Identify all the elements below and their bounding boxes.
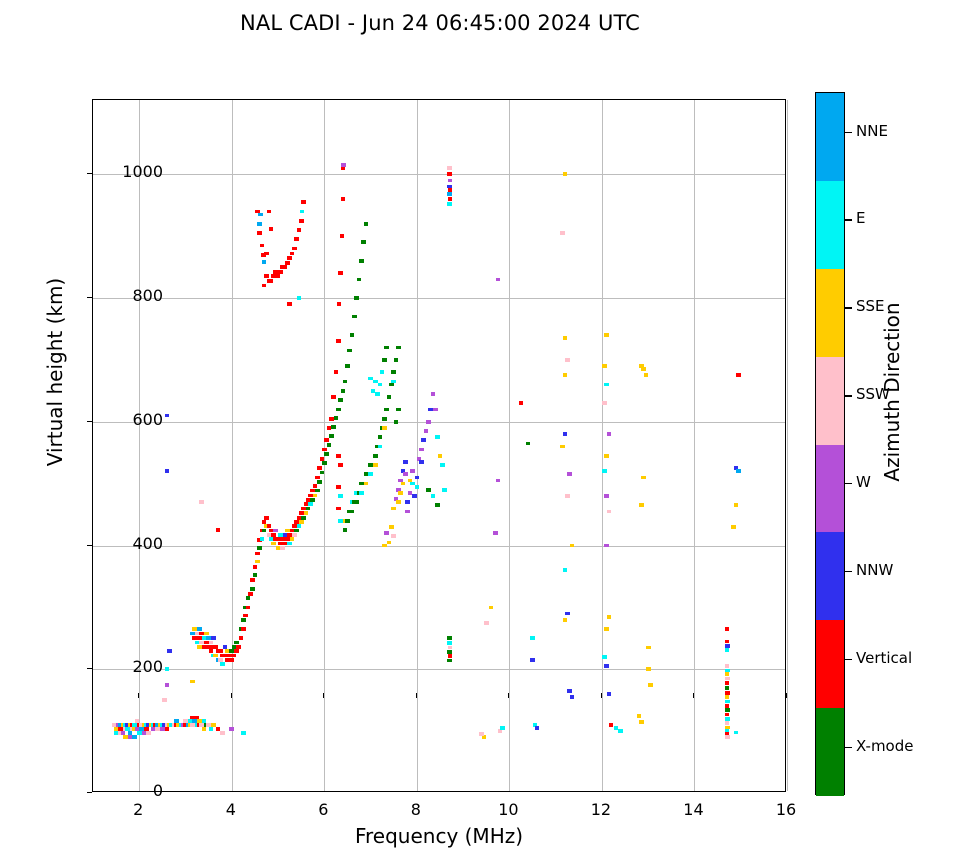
x-tick-mark (138, 693, 139, 698)
echo-point (447, 650, 452, 654)
echo-point (340, 234, 345, 238)
echo-point (223, 645, 228, 649)
echo-point (290, 252, 295, 256)
echo-point (725, 664, 730, 668)
echo-point (204, 632, 209, 636)
echo-point (294, 529, 299, 533)
echo-point (419, 448, 424, 452)
echo-point (262, 284, 267, 288)
echo-point (297, 228, 302, 232)
echo-point (285, 261, 290, 265)
echo-point (602, 364, 607, 368)
echo-point (382, 426, 387, 430)
echo-point (403, 460, 408, 464)
echo-point (563, 432, 568, 436)
echo-point (267, 524, 272, 528)
echo-point (725, 640, 730, 644)
echo-point (604, 664, 609, 668)
echo-point (336, 339, 341, 343)
echo-point (447, 172, 452, 176)
echo-point (338, 463, 343, 467)
echo-point (229, 658, 234, 662)
echo-point (440, 463, 445, 467)
echo-point (479, 732, 484, 736)
echo-point (338, 494, 343, 498)
echo-point (287, 542, 292, 546)
echo-point (433, 408, 438, 412)
echo-point (607, 692, 612, 696)
echo-point (315, 476, 320, 480)
echo-point (354, 500, 359, 504)
echo-point (218, 658, 223, 662)
plot-area (92, 99, 786, 792)
echo-point (304, 511, 309, 515)
echo-point (300, 210, 305, 214)
echo-point (146, 731, 151, 735)
echo-point (448, 654, 453, 658)
echo-point (276, 274, 281, 278)
x-tick-mark (601, 693, 602, 698)
echo-point (641, 367, 646, 371)
echo-point (438, 454, 443, 458)
echo-point (283, 265, 288, 269)
echo-point (382, 544, 387, 548)
echo-point (378, 445, 383, 449)
echo-point (424, 429, 429, 433)
echo-point (382, 358, 387, 362)
echo-point (350, 510, 355, 514)
echo-point (341, 197, 346, 201)
echo-point (725, 695, 730, 699)
echo-point (412, 494, 417, 498)
colorbar (815, 92, 845, 795)
echo-point (396, 408, 401, 412)
echo-point (604, 333, 609, 337)
echo-point (401, 482, 406, 486)
x-tick-label: 4 (201, 800, 261, 819)
echo-point (273, 529, 278, 533)
echo-point (560, 231, 565, 235)
echo-point (375, 392, 380, 396)
echo-point (725, 735, 730, 739)
echo-point (565, 612, 570, 616)
x-tick-label: 12 (571, 800, 631, 819)
echo-point (320, 457, 325, 461)
echo-point (646, 646, 651, 650)
echo-point (725, 686, 730, 690)
x-tick-label: 16 (756, 800, 816, 819)
echo-point (496, 278, 501, 282)
echo-point (262, 520, 267, 524)
echo-point (337, 302, 342, 306)
echo-point (250, 578, 255, 582)
x-tick-label: 10 (478, 800, 538, 819)
echo-point (725, 691, 730, 695)
echo-point (431, 392, 436, 396)
echo-point (165, 414, 170, 418)
x-tick-label: 2 (108, 800, 168, 819)
echo-point (213, 654, 218, 658)
echo-point (336, 408, 341, 412)
echo-point (563, 568, 568, 572)
echo-point (637, 714, 642, 718)
echo-point (604, 454, 609, 458)
colorbar-tick (845, 132, 852, 133)
echo-point (607, 510, 612, 514)
echo-point (306, 507, 311, 511)
echo-point (315, 489, 320, 493)
echo-point (419, 460, 424, 464)
ionogram-figure: NAL CADI - Jun 24 06:45:00 2024 UTC 2468… (0, 0, 958, 857)
echo-point (294, 237, 299, 241)
echo-point (255, 552, 260, 556)
echo-point (725, 677, 730, 681)
echo-point (255, 210, 260, 214)
echo-point (565, 494, 570, 498)
echo-point (255, 560, 260, 564)
page-title: NAL CADI - Jun 24 06:45:00 2024 UTC (0, 8, 880, 38)
echo-point (602, 401, 607, 405)
echo-point (602, 655, 607, 659)
echo-point (253, 573, 258, 577)
echo-point (253, 565, 258, 569)
x-tick-mark (231, 693, 232, 698)
echo-point (347, 349, 352, 353)
echo-point (232, 654, 237, 658)
echo-point (725, 672, 730, 676)
colorbar-band-ssw (816, 357, 844, 445)
echo-point (448, 188, 453, 192)
echo-point (278, 270, 283, 274)
echo-point (725, 648, 730, 652)
colorbar-band-vertical (816, 620, 844, 708)
echo-point (338, 271, 343, 275)
gridline-vertical (787, 100, 788, 791)
echo-point (234, 641, 239, 645)
echo-point (384, 346, 389, 350)
colorbar-band-nne (816, 93, 844, 181)
echo-point (535, 726, 540, 730)
y-tick-label: 400 (93, 534, 163, 553)
echo-point (391, 534, 396, 538)
colorbar-label-vertical: Vertical (856, 649, 912, 667)
echo-point (322, 461, 327, 465)
echo-point (211, 723, 216, 727)
colorbar-tick (845, 747, 852, 748)
echo-point (618, 729, 623, 733)
echo-point (530, 658, 535, 662)
echo-point (373, 380, 378, 384)
echo-point (489, 606, 494, 610)
echo-point (368, 377, 373, 381)
echo-point (644, 373, 649, 377)
echo-point (257, 231, 262, 235)
echo-point (484, 621, 489, 625)
echo-point (128, 731, 133, 735)
echo-point (334, 370, 339, 374)
echo-point (604, 494, 609, 498)
x-tick-mark (693, 693, 694, 698)
echo-point (327, 443, 332, 447)
echo-point (257, 546, 262, 550)
echo-point (292, 533, 297, 537)
x-tick-mark (786, 693, 787, 698)
echo-point (519, 401, 524, 405)
echo-point (447, 659, 452, 663)
echo-point (317, 480, 322, 484)
echo-point (387, 395, 392, 399)
echo-point (396, 500, 401, 504)
x-tick-label: 8 (386, 800, 446, 819)
echo-point (415, 485, 420, 489)
echo-point (260, 244, 265, 248)
echo-point (378, 383, 383, 387)
echo-point (359, 259, 364, 263)
echo-point (734, 731, 739, 735)
echo-point (322, 448, 327, 452)
echo-point (262, 529, 267, 533)
echo-point (197, 627, 202, 631)
echo-point (313, 484, 318, 488)
echo-point (218, 649, 223, 653)
echo-point (364, 222, 369, 226)
echo-point (241, 618, 246, 622)
y-axis-label: Virtual height (km) (43, 222, 67, 522)
echo-point (396, 346, 401, 350)
echo-point (405, 510, 410, 514)
echo-point (500, 726, 505, 730)
echo-point (271, 533, 276, 537)
echo-point (290, 537, 295, 541)
echo-point (435, 503, 440, 507)
echo-point (639, 720, 644, 724)
echo-point (336, 507, 341, 511)
echo-point (165, 683, 170, 687)
echo-point (570, 544, 575, 548)
echo-point (165, 727, 170, 731)
echo-point (563, 618, 568, 622)
echo-point (380, 370, 385, 374)
echo-point (324, 452, 329, 456)
echo-point (447, 641, 452, 645)
echo-point (447, 636, 452, 640)
echo-point (167, 649, 172, 653)
echo-point (331, 395, 336, 399)
echo-point (338, 519, 343, 523)
echo-point (359, 491, 364, 495)
x-tick-label: 6 (293, 800, 353, 819)
colorbar-label-x-mode: X-mode (856, 737, 913, 755)
echo-point (199, 500, 204, 504)
echo-point (262, 260, 267, 264)
echo-point (435, 435, 440, 439)
echo-point (639, 503, 644, 507)
echo-point (213, 645, 218, 649)
x-tick-mark (323, 693, 324, 698)
echo-point (234, 649, 239, 653)
echo-point (350, 333, 355, 337)
echo-point (257, 222, 262, 226)
echo-point (260, 537, 265, 541)
echo-point (391, 380, 396, 384)
echo-point (248, 592, 253, 596)
echo-point (398, 491, 403, 495)
echo-point (725, 721, 730, 725)
echo-point (410, 469, 415, 473)
echo-point (405, 500, 410, 504)
colorbar-label-e: E (856, 209, 865, 227)
echo-point (241, 731, 246, 735)
colorbar-tick (845, 219, 852, 220)
echo-point (368, 472, 373, 476)
echo-point (364, 482, 369, 486)
y-tick-mark (87, 173, 92, 174)
colorbar-band-w (816, 445, 844, 533)
y-tick-label: 0 (93, 781, 163, 800)
echo-point (345, 364, 350, 368)
echo-point (320, 471, 325, 475)
colorbar-band-x-mode (816, 708, 844, 796)
echo-point (394, 420, 399, 424)
echo-point (387, 541, 392, 545)
echo-point (447, 166, 452, 170)
echo-point (336, 485, 341, 489)
echo-point (563, 336, 568, 340)
echo-point (341, 163, 346, 167)
echo-point (301, 200, 306, 204)
colorbar-label-nne: NNE (856, 122, 888, 140)
echo-point (736, 469, 741, 473)
colorbar-tick (845, 483, 852, 484)
echo-point (725, 717, 730, 721)
colorbar-label-w: W (856, 473, 871, 491)
echo-point (373, 463, 378, 467)
echo-point (209, 727, 214, 731)
echo-point (190, 680, 195, 684)
echo-point (604, 544, 609, 548)
echo-point (448, 646, 453, 650)
echo-point (725, 644, 730, 648)
echo-scatter-layer (93, 100, 785, 791)
echo-point (297, 524, 302, 528)
echo-point (299, 520, 304, 524)
echo-point (287, 256, 292, 260)
echo-point (132, 735, 137, 739)
echo-point (267, 210, 272, 214)
echo-point (570, 695, 575, 699)
echo-point (563, 373, 568, 377)
echo-point (378, 435, 383, 439)
y-tick-mark (87, 545, 92, 546)
echo-point (162, 698, 167, 702)
echo-point (280, 546, 285, 550)
echo-point (426, 420, 431, 424)
echo-point (264, 274, 269, 278)
echo-point (493, 531, 498, 535)
echo-point (287, 302, 292, 306)
echo-point (725, 681, 730, 685)
echo-point (391, 507, 396, 511)
echo-point (725, 704, 730, 708)
echo-point (341, 389, 346, 393)
colorbar-tick (845, 395, 852, 396)
echo-point (403, 472, 408, 476)
x-tick-label: 14 (663, 800, 723, 819)
echo-point (121, 731, 126, 735)
echo-point (447, 192, 452, 196)
echo-point (373, 454, 378, 458)
colorbar-label-sse: SSE (856, 297, 885, 315)
echo-point (565, 358, 570, 362)
echo-point (352, 315, 357, 319)
echo-point (421, 438, 426, 442)
echo-point (607, 432, 612, 436)
echo-point (391, 370, 396, 374)
colorbar-band-e (816, 181, 844, 269)
colorbar-tick (845, 307, 852, 308)
echo-point (241, 627, 246, 631)
echo-point (246, 606, 251, 610)
echo-point (243, 614, 248, 618)
echo-point (725, 700, 730, 704)
echo-point (324, 438, 329, 442)
echo-point (297, 296, 302, 300)
echo-point (496, 479, 501, 483)
echo-point (731, 525, 736, 529)
echo-point (426, 488, 431, 492)
echo-point (646, 667, 651, 671)
echo-point (299, 219, 304, 223)
echo-point (357, 278, 362, 282)
colorbar-band-sse (816, 269, 844, 357)
echo-point (604, 383, 609, 387)
x-axis-label: Frequency (MHz) (92, 824, 786, 848)
echo-point (165, 667, 170, 671)
echo-point (209, 649, 214, 653)
echo-point (415, 476, 420, 480)
colorbar-band-nnw (816, 532, 844, 620)
echo-point (269, 279, 274, 283)
y-tick-mark (87, 421, 92, 422)
echo-point (310, 498, 315, 502)
echo-point (431, 494, 436, 498)
y-tick-label: 200 (93, 657, 163, 676)
echo-point (343, 528, 348, 532)
echo-point (202, 727, 207, 731)
echo-point (361, 240, 366, 244)
echo-point (229, 727, 234, 731)
echo-point (343, 380, 348, 384)
echo-point (329, 434, 334, 438)
echo-point (165, 469, 170, 473)
echo-point (442, 488, 447, 492)
colorbar-label-nnw: NNW (856, 561, 893, 579)
echo-point (371, 389, 376, 393)
echo-point (236, 645, 241, 649)
echo-point (447, 202, 452, 206)
y-tick-mark (87, 297, 92, 298)
colorbar-label-ssw: SSW (856, 385, 890, 403)
echo-point (725, 708, 730, 712)
echo-point (269, 227, 274, 231)
echo-point (345, 519, 350, 523)
echo-point (301, 516, 306, 520)
y-tick-label: 800 (93, 286, 163, 305)
echo-point (567, 689, 572, 693)
y-tick-mark (87, 792, 92, 793)
echo-point (563, 172, 568, 176)
echo-point (526, 442, 531, 446)
